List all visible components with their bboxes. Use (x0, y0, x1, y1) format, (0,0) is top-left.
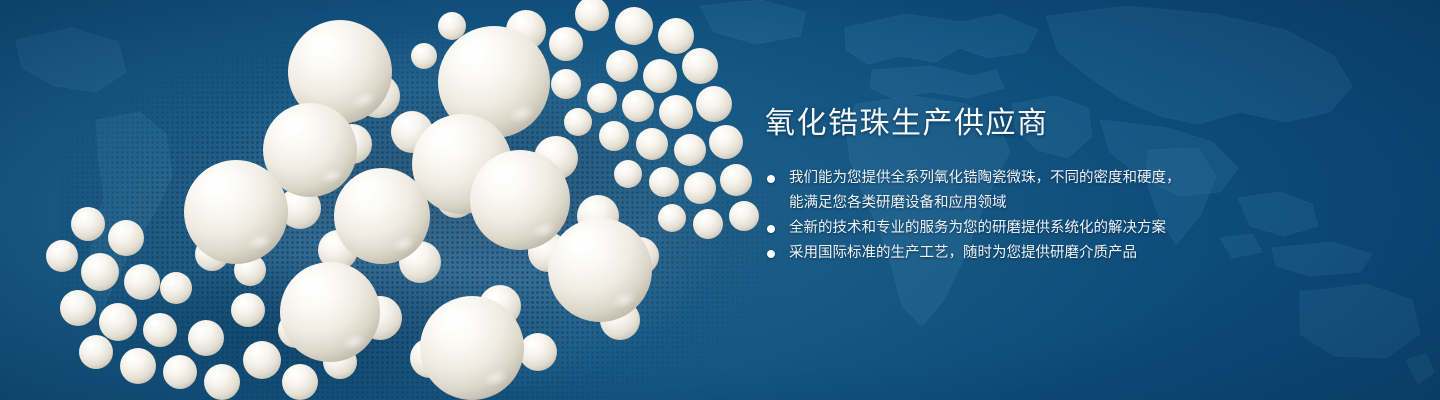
bullet-dot-icon (767, 225, 775, 233)
feature-list: 我们能为您提供全系列氧化锆陶瓷微珠，不同的密度和硬度， 能满足您各类研磨设备和应… (765, 166, 1235, 266)
list-item-line-1: 采用国际标准的生产工艺，随时为您提供研磨介质产品 (789, 245, 1137, 261)
banner-copy: 氧化锆珠生产供应商 我们能为您提供全系列氧化锆陶瓷微珠，不同的密度和硬度， 能满… (765, 104, 1235, 266)
bullet-dot-icon (767, 175, 775, 183)
page-title: 氧化锆珠生产供应商 (765, 104, 1235, 144)
list-item-line-1: 我们能为您提供全系列氧化锆陶瓷微珠，不同的密度和硬度， (789, 170, 1181, 186)
hero-banner: 氧化锆珠生产供应商 我们能为您提供全系列氧化锆陶瓷微珠，不同的密度和硬度， 能满… (0, 0, 1440, 400)
zirconia-beads-image (0, 0, 760, 400)
list-item: 全新的技术和专业的服务为您的研磨提供系统化的解决方案 (765, 216, 1235, 241)
list-item: 我们能为您提供全系列氧化锆陶瓷微珠，不同的密度和硬度， 能满足您各类研磨设备和应… (765, 166, 1235, 216)
list-item: 采用国际标准的生产工艺，随时为您提供研磨介质产品 (765, 241, 1235, 266)
list-item-line-2: 能满足您各类研磨设备和应用领域 (789, 191, 1235, 216)
bullet-dot-icon (767, 250, 775, 258)
list-item-line-1: 全新的技术和专业的服务为您的研磨提供系统化的解决方案 (789, 220, 1166, 236)
